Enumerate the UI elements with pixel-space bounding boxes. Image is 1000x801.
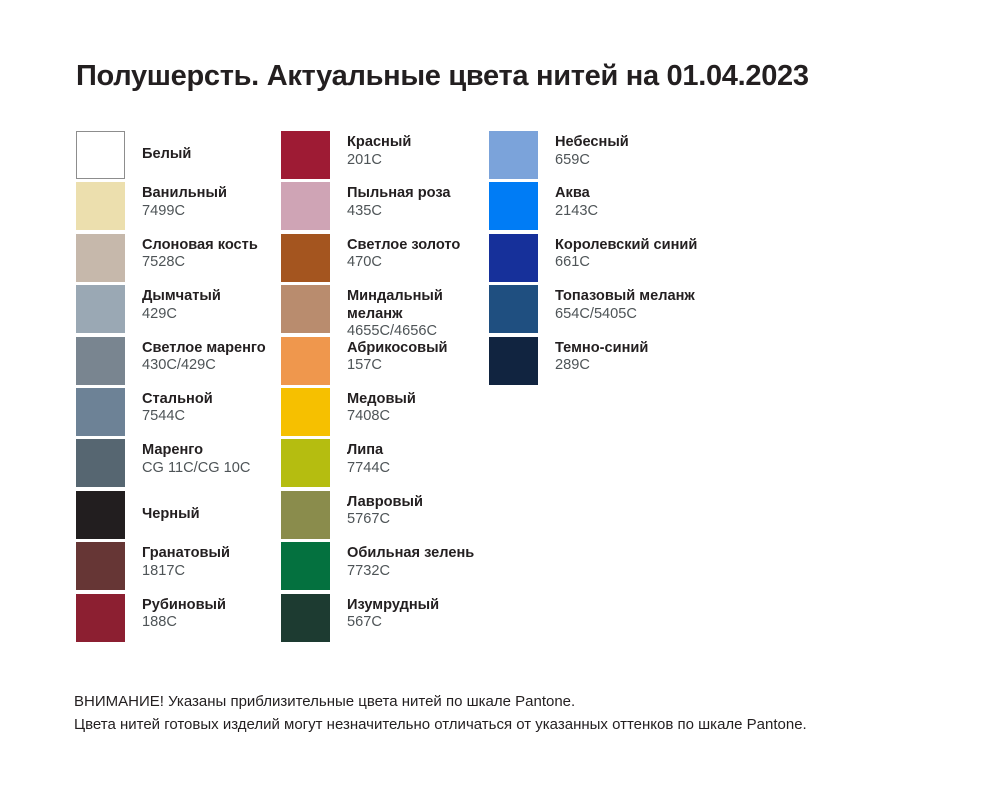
pantone-code: 2143C	[555, 203, 598, 221]
page-title: Полушерсть. Актуальные цвета нитей на 01…	[76, 60, 809, 93]
swatch-labels: Рубиновый188C	[125, 594, 226, 632]
color-swatch[interactable]	[489, 337, 538, 385]
swatch-row[interactable]: Миндальный меланж4655C/4656C	[281, 285, 489, 336]
pantone-code: 7528C	[142, 254, 258, 272]
pantone-code: 5767C	[347, 511, 423, 529]
color-name: Темно-синий	[555, 340, 648, 358]
pantone-code: 567C	[347, 614, 439, 632]
swatch-row[interactable]: Медовый7408C	[281, 388, 489, 439]
swatch-labels: Миндальный меланж4655C/4656C	[330, 285, 477, 341]
pantone-code: 659C	[555, 152, 629, 170]
swatch-labels: Медовый7408C	[330, 388, 416, 426]
neutrals-column: БелыйВанильный7499CСлоновая кость7528CДы…	[76, 131, 281, 645]
swatch-row[interactable]: Изумрудный567C	[281, 594, 489, 645]
color-swatch[interactable]	[489, 131, 538, 179]
color-swatch[interactable]	[76, 594, 125, 642]
color-name: Слоновая кость	[142, 237, 258, 255]
swatch-labels: Светлое маренго430C/429C	[125, 337, 266, 375]
color-swatch[interactable]	[76, 542, 125, 590]
color-name: Изумрудный	[347, 597, 439, 615]
color-name: Обильная зелень	[347, 545, 474, 563]
swatch-labels: Пыльная роза435C	[330, 182, 451, 220]
color-swatch[interactable]	[281, 182, 330, 230]
color-name: Топазовый меланж	[555, 288, 695, 306]
swatch-row[interactable]: Светлое маренго430C/429C	[76, 337, 281, 388]
color-swatch[interactable]	[76, 439, 125, 487]
swatch-row[interactable]: Аква2143C	[489, 182, 749, 233]
color-name: Стальной	[142, 391, 213, 409]
swatch-labels: Небесный659C	[538, 131, 629, 169]
color-swatch[interactable]	[489, 234, 538, 282]
swatch-row[interactable]: Рубиновый188C	[76, 594, 281, 645]
swatch-labels: Светлое золото470C	[330, 234, 460, 272]
swatch-labels: Стальной7544C	[125, 388, 213, 426]
swatch-labels: Темно-синий289C	[538, 337, 648, 375]
swatch-labels: Белый	[125, 131, 191, 179]
swatch-labels: Абрикосовый157C	[330, 337, 448, 375]
swatch-row[interactable]: Стальной7544C	[76, 388, 281, 439]
pantone-code: 430C/429C	[142, 357, 266, 375]
color-name: Белый	[142, 146, 191, 164]
pantone-code: 654C/5405C	[555, 306, 695, 324]
swatch-labels: Красный201C	[330, 131, 411, 169]
swatch-row[interactable]: Дымчатый429C	[76, 285, 281, 336]
color-name: Дымчатый	[142, 288, 221, 306]
color-swatch[interactable]	[281, 491, 330, 539]
color-name: Пыльная роза	[347, 185, 451, 203]
disclaimer-line-1: ВНИМАНИЕ! Указаны приблизительные цвета …	[74, 690, 807, 713]
swatch-labels: Гранатовый1817C	[125, 542, 230, 580]
swatch-row[interactable]: Красный201C	[281, 131, 489, 182]
color-name: Медовый	[347, 391, 416, 409]
color-swatch[interactable]	[281, 439, 330, 487]
color-name: Маренго	[142, 442, 250, 460]
warm-column: Красный201CПыльная роза435CСветлое золот…	[281, 131, 489, 645]
pantone-code: 7544C	[142, 408, 213, 426]
pantone-code: 429C	[142, 306, 221, 324]
swatch-columns: БелыйВанильный7499CСлоновая кость7528CДы…	[76, 131, 956, 645]
pantone-code: 157C	[347, 357, 448, 375]
color-name: Черный	[142, 506, 200, 524]
swatch-row[interactable]: Темно-синий289C	[489, 337, 749, 388]
color-swatch[interactable]	[281, 388, 330, 436]
blues-column: Небесный659CАква2143CКоролевский синий66…	[489, 131, 749, 388]
pantone-code: CG 11C/CG 10C	[142, 460, 250, 478]
pantone-code: 7499C	[142, 203, 227, 221]
color-name: Гранатовый	[142, 545, 230, 563]
pantone-code: 7744C	[347, 460, 390, 478]
color-swatch[interactable]	[76, 131, 125, 179]
pantone-code: 188C	[142, 614, 226, 632]
color-name: Рубиновый	[142, 597, 226, 615]
color-swatch[interactable]	[281, 542, 330, 590]
pantone-code: 289C	[555, 357, 648, 375]
swatch-row[interactable]: МаренгоCG 11C/CG 10C	[76, 439, 281, 490]
color-swatch[interactable]	[281, 285, 330, 333]
color-swatch[interactable]	[76, 285, 125, 333]
color-name: Ванильный	[142, 185, 227, 203]
disclaimer-line-2: Цвета нитей готовых изделий могут незнач…	[74, 713, 807, 736]
color-chart-page: Полушерсть. Актуальные цвета нитей на 01…	[0, 0, 1000, 801]
swatch-labels: Ванильный7499C	[125, 182, 227, 220]
color-name: Липа	[347, 442, 390, 460]
pantone-code: 470C	[347, 254, 460, 272]
color-swatch[interactable]	[489, 182, 538, 230]
color-name: Миндальный меланж	[347, 288, 477, 323]
swatch-row[interactable]: Липа7744C	[281, 439, 489, 490]
pantone-code: 7732C	[347, 563, 474, 581]
swatch-row[interactable]: Черный	[76, 491, 281, 542]
color-swatch[interactable]	[281, 337, 330, 385]
disclaimer: ВНИМАНИЕ! Указаны приблизительные цвета …	[74, 690, 807, 736]
swatch-labels: Слоновая кость7528C	[125, 234, 258, 272]
swatch-labels: Изумрудный567C	[330, 594, 439, 632]
swatch-labels: Обильная зелень7732C	[330, 542, 474, 580]
pantone-code: 7408C	[347, 408, 416, 426]
color-name: Светлое маренго	[142, 340, 266, 358]
swatch-row[interactable]: Топазовый меланж654C/5405C	[489, 285, 749, 336]
swatch-labels: Черный	[125, 491, 200, 539]
pantone-code: 1817C	[142, 563, 230, 581]
color-name: Королевский синий	[555, 237, 697, 255]
pantone-code: 661C	[555, 254, 697, 272]
swatch-row[interactable]: Лавровый5767C	[281, 491, 489, 542]
color-name: Лавровый	[347, 494, 423, 512]
swatch-row[interactable]: Гранатовый1817C	[76, 542, 281, 593]
swatch-labels: Королевский синий661C	[538, 234, 697, 272]
swatch-row[interactable]: Небесный659C	[489, 131, 749, 182]
color-name: Светлое золото	[347, 237, 460, 255]
color-name: Небесный	[555, 134, 629, 152]
color-name: Аква	[555, 185, 598, 203]
pantone-code: 201C	[347, 152, 411, 170]
swatch-row[interactable]: Королевский синий661C	[489, 234, 749, 285]
color-swatch[interactable]	[76, 182, 125, 230]
color-swatch[interactable]	[281, 131, 330, 179]
swatch-row[interactable]: Пыльная роза435C	[281, 182, 489, 233]
swatch-row[interactable]: Слоновая кость7528C	[76, 234, 281, 285]
swatch-row[interactable]: Ванильный7499C	[76, 182, 281, 233]
swatch-labels: Липа7744C	[330, 439, 390, 477]
swatch-row[interactable]: Абрикосовый157C	[281, 337, 489, 388]
swatch-row[interactable]: Светлое золото470C	[281, 234, 489, 285]
swatch-row[interactable]: Белый	[76, 131, 281, 182]
color-swatch[interactable]	[76, 337, 125, 385]
swatch-labels: МаренгоCG 11C/CG 10C	[125, 439, 250, 477]
color-swatch[interactable]	[281, 234, 330, 282]
color-swatch[interactable]	[281, 594, 330, 642]
color-swatch[interactable]	[489, 285, 538, 333]
color-name: Абрикосовый	[347, 340, 448, 358]
swatch-labels: Аква2143C	[538, 182, 598, 220]
pantone-code: 435C	[347, 203, 451, 221]
swatch-labels: Дымчатый429C	[125, 285, 221, 323]
color-swatch[interactable]	[76, 491, 125, 539]
color-swatch[interactable]	[76, 388, 125, 436]
color-name: Красный	[347, 134, 411, 152]
swatch-row[interactable]: Обильная зелень7732C	[281, 542, 489, 593]
swatch-labels: Топазовый меланж654C/5405C	[538, 285, 695, 323]
swatch-labels: Лавровый5767C	[330, 491, 423, 529]
color-swatch[interactable]	[76, 234, 125, 282]
